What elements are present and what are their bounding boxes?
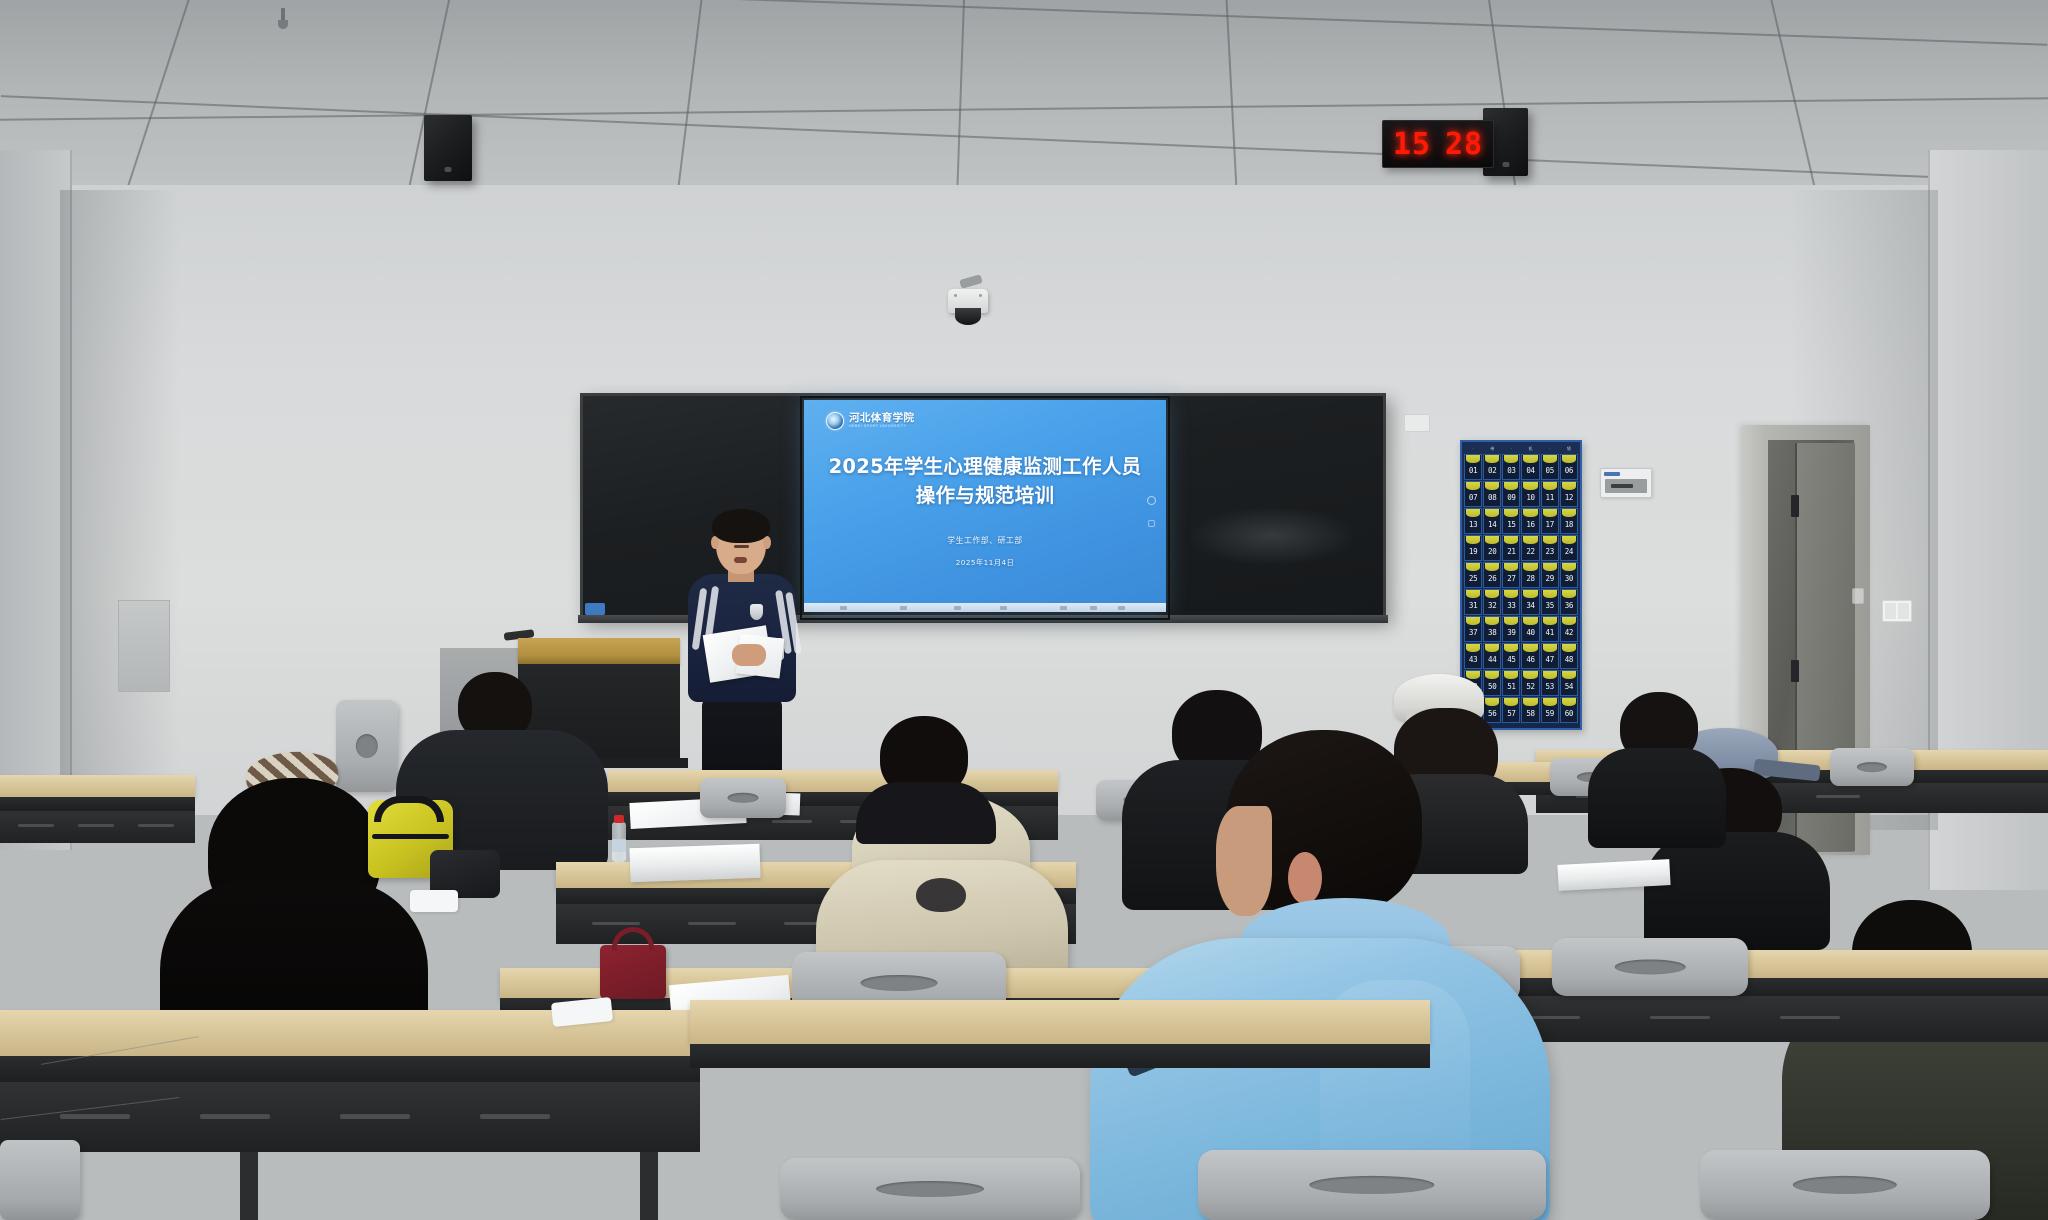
desk-foreground-left-panel bbox=[0, 1082, 700, 1152]
pocket-number: 53 bbox=[1546, 683, 1554, 696]
organizer-pocket[interactable]: 11 bbox=[1541, 481, 1559, 507]
chair[interactable] bbox=[1552, 938, 1748, 996]
desk-leg bbox=[640, 1152, 658, 1220]
pocket-flap bbox=[1562, 455, 1576, 463]
organizer-pocket[interactable]: 42 bbox=[1560, 616, 1578, 642]
wall-digital-clock: 15 28 bbox=[1382, 120, 1494, 168]
chair[interactable] bbox=[0, 1140, 80, 1220]
organizer-pocket[interactable]: 17 bbox=[1541, 508, 1559, 534]
pocket-flap bbox=[1543, 698, 1557, 706]
pocket-number: 01 bbox=[1469, 467, 1477, 480]
classroom-scene: 15 28 河北体育学院 HEBEI SPORT UNIVERSITY 2025… bbox=[0, 0, 2048, 1220]
pocket-number: 22 bbox=[1526, 548, 1534, 561]
organizer-pocket[interactable]: 46 bbox=[1521, 643, 1539, 669]
pocket-flap bbox=[1504, 563, 1518, 571]
pocket-number: 54 bbox=[1565, 683, 1573, 696]
desk-foreground-center bbox=[690, 1000, 1430, 1044]
pocket-flap bbox=[1562, 536, 1576, 544]
organizer-pocket[interactable]: 27 bbox=[1502, 562, 1520, 588]
organizer-pocket[interactable]: 15 bbox=[1502, 508, 1520, 534]
pocket-number: 20 bbox=[1488, 548, 1496, 561]
pocket-flap bbox=[1543, 509, 1557, 517]
pocket-number: 36 bbox=[1565, 602, 1573, 615]
pocket-flap bbox=[1543, 590, 1557, 598]
organizer-pocket[interactable]: 54 bbox=[1560, 670, 1578, 696]
pocket-flap bbox=[1485, 536, 1499, 544]
organizer-pocket[interactable]: 31 bbox=[1464, 589, 1482, 615]
pocket-flap bbox=[1562, 482, 1576, 490]
pocket-number: 41 bbox=[1546, 629, 1554, 642]
organizer-pocket[interactable]: 44 bbox=[1483, 643, 1501, 669]
pocket-flap bbox=[1562, 698, 1576, 706]
organizer-pocket[interactable]: 04 bbox=[1521, 454, 1539, 480]
pocket-flap bbox=[1504, 590, 1518, 598]
organizer-pocket[interactable]: 16 bbox=[1521, 508, 1539, 534]
pocket-number: 11 bbox=[1546, 494, 1554, 507]
organizer-pocket[interactable]: 19 bbox=[1464, 535, 1482, 561]
organizer-pocket[interactable]: 24 bbox=[1560, 535, 1578, 561]
pocket-flap bbox=[1543, 644, 1557, 652]
pocket-flap bbox=[1523, 509, 1537, 517]
organizer-pocket[interactable]: 20 bbox=[1483, 535, 1501, 561]
organizer-header-mark: · bbox=[1502, 445, 1520, 453]
organizer-header: · 带 · 机 · 袋 bbox=[1464, 445, 1578, 453]
pocket-flap bbox=[1543, 455, 1557, 463]
wall-outlet-plate bbox=[1404, 414, 1430, 432]
desk-leg bbox=[240, 1152, 258, 1220]
organizer-pocket[interactable]: 43 bbox=[1464, 643, 1482, 669]
pocket-flap bbox=[1485, 509, 1499, 517]
board-corner-tab bbox=[585, 603, 605, 615]
organizer-header-mark: 带 bbox=[1483, 445, 1501, 453]
organizer-pocket[interactable]: 38 bbox=[1483, 616, 1501, 642]
organizer-pocket[interactable]: 34 bbox=[1521, 589, 1539, 615]
organizer-header-mark: 袋 bbox=[1560, 445, 1578, 453]
pocket-flap bbox=[1466, 455, 1480, 463]
lectern-top bbox=[518, 638, 680, 664]
pocket-flap bbox=[1562, 590, 1576, 598]
pocket-number: 30 bbox=[1565, 575, 1573, 588]
pocket-number: 27 bbox=[1507, 575, 1515, 588]
pocket-flap bbox=[1543, 482, 1557, 490]
pocket-number: 05 bbox=[1546, 467, 1554, 480]
organizer-pocket[interactable]: 06 bbox=[1560, 454, 1578, 480]
organizer-header-mark: 机 bbox=[1521, 445, 1539, 453]
pocket-number: 13 bbox=[1469, 521, 1477, 534]
pocket-number: 40 bbox=[1526, 629, 1534, 642]
pocket-flap bbox=[1485, 590, 1499, 598]
organizer-pocket[interactable]: 26 bbox=[1483, 562, 1501, 588]
pocket-number: 12 bbox=[1565, 494, 1573, 507]
pocket-flap bbox=[1485, 482, 1499, 490]
pocket-flap bbox=[1466, 509, 1480, 517]
pocket-number: 37 bbox=[1469, 629, 1477, 642]
pocket-flap bbox=[1523, 563, 1537, 571]
pocket-flap bbox=[1466, 644, 1480, 652]
pocket-flap bbox=[1485, 644, 1499, 652]
attendee-4 bbox=[856, 716, 996, 836]
pocket-number: 31 bbox=[1469, 602, 1477, 615]
clock-minutes: 28 bbox=[1445, 127, 1483, 162]
pocket-flap bbox=[1504, 536, 1518, 544]
pocket-flap bbox=[1543, 563, 1557, 571]
pocket-number: 06 bbox=[1565, 467, 1573, 480]
pocket-flap bbox=[1523, 482, 1537, 490]
pocket-number: 28 bbox=[1526, 575, 1534, 588]
organizer-pocket[interactable]: 37 bbox=[1464, 616, 1482, 642]
pocket-flap bbox=[1562, 509, 1576, 517]
pocket-number: 43 bbox=[1469, 656, 1477, 669]
pocket-number: 18 bbox=[1565, 521, 1573, 534]
organizer-pocket[interactable]: 40 bbox=[1521, 616, 1539, 642]
pocket-number: 21 bbox=[1507, 548, 1515, 561]
pocket-number: 46 bbox=[1526, 656, 1534, 669]
organizer-pocket[interactable]: 53 bbox=[1541, 670, 1559, 696]
chair[interactable] bbox=[1830, 748, 1914, 786]
pocket-flap bbox=[1466, 482, 1480, 490]
pocket-flap bbox=[1504, 617, 1518, 625]
presenter-person bbox=[672, 512, 812, 782]
pocket-number: 04 bbox=[1526, 467, 1534, 480]
organizer-pocket[interactable]: 02 bbox=[1483, 454, 1501, 480]
screen-bezel bbox=[800, 396, 1170, 620]
pocket-number: 32 bbox=[1488, 602, 1496, 615]
red-handbag bbox=[600, 945, 666, 999]
organizer-pocket[interactable]: 60 bbox=[1560, 697, 1578, 723]
pocket-flap bbox=[1504, 509, 1518, 517]
organizer-pocket[interactable]: 41 bbox=[1541, 616, 1559, 642]
organizer-pocket[interactable]: 12 bbox=[1560, 481, 1578, 507]
ceiling bbox=[0, 0, 2048, 200]
presenter-hair bbox=[712, 509, 770, 543]
pocket-flap bbox=[1523, 536, 1537, 544]
pocket-flap bbox=[1485, 617, 1499, 625]
ceiling-sprinkler-head bbox=[278, 8, 288, 30]
pocket-flap bbox=[1562, 644, 1576, 652]
pocket-flap bbox=[1543, 617, 1557, 625]
pocket-number: 24 bbox=[1565, 548, 1573, 561]
pocket-flap bbox=[1523, 590, 1537, 598]
pocket-number: 02 bbox=[1488, 467, 1496, 480]
organizer-pocket[interactable]: 59 bbox=[1541, 697, 1559, 723]
organizer-pocket[interactable]: 13 bbox=[1464, 508, 1482, 534]
wall-speaker-left bbox=[424, 115, 472, 181]
organizer-pocket[interactable]: 47 bbox=[1541, 643, 1559, 669]
pocket-number: 23 bbox=[1546, 548, 1554, 561]
organizer-pocket[interactable]: 09 bbox=[1502, 481, 1520, 507]
pocket-number: 44 bbox=[1488, 656, 1496, 669]
organizer-pocket[interactable]: 48 bbox=[1560, 643, 1578, 669]
pocket-flap bbox=[1466, 590, 1480, 598]
organizer-pocket[interactable]: 03 bbox=[1502, 454, 1520, 480]
pocket-number: 33 bbox=[1507, 602, 1515, 615]
organizer-pocket[interactable]: 08 bbox=[1483, 481, 1501, 507]
pocket-number: 17 bbox=[1546, 521, 1554, 534]
organizer-pocket[interactable]: 21 bbox=[1502, 535, 1520, 561]
organizer-pocket[interactable]: 35 bbox=[1541, 589, 1559, 615]
wall-placard bbox=[1600, 468, 1652, 498]
organizer-pocket[interactable]: 32 bbox=[1483, 589, 1501, 615]
chair[interactable] bbox=[700, 778, 786, 818]
pocket-flap bbox=[1543, 671, 1557, 679]
pocket-number: 19 bbox=[1469, 548, 1477, 561]
organizer-pocket[interactable]: 22 bbox=[1521, 535, 1539, 561]
chair[interactable] bbox=[1700, 1150, 1990, 1220]
pocket-flap bbox=[1543, 536, 1557, 544]
organizer-pocket[interactable]: 18 bbox=[1560, 508, 1578, 534]
open-notebook bbox=[629, 844, 760, 883]
pocket-number: 07 bbox=[1469, 494, 1477, 507]
pocket-flap bbox=[1485, 455, 1499, 463]
organizer-pocket[interactable]: 29 bbox=[1541, 562, 1559, 588]
pocket-flap bbox=[1523, 617, 1537, 625]
pocket-number: 60 bbox=[1565, 710, 1573, 723]
wall-light-switch[interactable] bbox=[1882, 600, 1912, 622]
pocket-number: 15 bbox=[1507, 521, 1515, 534]
pocket-flap bbox=[1562, 671, 1576, 679]
presenter-hands bbox=[732, 644, 766, 666]
pocket-flap bbox=[1562, 563, 1576, 571]
organizer-pocket[interactable]: 25 bbox=[1464, 562, 1482, 588]
organizer-pocket[interactable]: 23 bbox=[1541, 535, 1559, 561]
pocket-flap bbox=[1466, 536, 1480, 544]
pocket-number: 38 bbox=[1488, 629, 1496, 642]
organizer-pocket[interactable]: 14 bbox=[1483, 508, 1501, 534]
organizer-pocket[interactable]: 30 bbox=[1560, 562, 1578, 588]
pocket-number: 35 bbox=[1546, 602, 1554, 615]
organizer-pocket[interactable]: 36 bbox=[1560, 589, 1578, 615]
organizer-header-mark: · bbox=[1541, 445, 1559, 453]
pocket-flap bbox=[1466, 563, 1480, 571]
organizer-pocket[interactable]: 07 bbox=[1464, 481, 1482, 507]
chair[interactable] bbox=[780, 1158, 1080, 1220]
attendee-7-ear bbox=[1288, 852, 1322, 904]
pocket-flap bbox=[1504, 644, 1518, 652]
organizer-pocket[interactable]: 01 bbox=[1464, 454, 1482, 480]
pocket-number: 45 bbox=[1507, 656, 1515, 669]
pocket-flap bbox=[1504, 455, 1518, 463]
organizer-pocket[interactable]: 05 bbox=[1541, 454, 1559, 480]
dome-security-camera bbox=[948, 285, 988, 327]
pocket-number: 48 bbox=[1565, 656, 1573, 669]
organizer-pocket[interactable]: 45 bbox=[1502, 643, 1520, 669]
pocket-number: 08 bbox=[1488, 494, 1496, 507]
pocket-flap bbox=[1523, 644, 1537, 652]
pocket-number: 59 bbox=[1546, 710, 1554, 723]
presenter-jacket-crest bbox=[750, 604, 763, 620]
wall-niche bbox=[118, 600, 170, 692]
pocket-number: 16 bbox=[1526, 521, 1534, 534]
pocket-number: 10 bbox=[1526, 494, 1534, 507]
pocket-flap bbox=[1562, 617, 1576, 625]
pocket-number: 26 bbox=[1488, 575, 1496, 588]
pocket-number: 39 bbox=[1507, 629, 1515, 642]
pocket-flap bbox=[1466, 617, 1480, 625]
organizer-pocket[interactable]: 33 bbox=[1502, 589, 1520, 615]
attendee-8 bbox=[1588, 692, 1728, 842]
pocket-flap bbox=[1523, 455, 1537, 463]
pocket-number: 42 bbox=[1565, 629, 1573, 642]
organizer-pocket[interactable]: 10 bbox=[1521, 481, 1539, 507]
pocket-number: 29 bbox=[1546, 575, 1554, 588]
pocket-flap bbox=[1485, 563, 1499, 571]
clock-hours: 15 bbox=[1393, 127, 1431, 162]
pocket-number: 14 bbox=[1488, 521, 1496, 534]
organizer-header-mark: · bbox=[1464, 445, 1482, 453]
pocket-flap bbox=[1504, 482, 1518, 490]
pocket-number: 34 bbox=[1526, 602, 1534, 615]
attendee-7 bbox=[1090, 730, 1560, 1220]
organizer-pocket[interactable]: 39 bbox=[1502, 616, 1520, 642]
chair[interactable] bbox=[1198, 1150, 1546, 1220]
pocket-number: 03 bbox=[1507, 467, 1515, 480]
wall-outlet-plate bbox=[1852, 588, 1864, 604]
tissue bbox=[410, 890, 458, 912]
organizer-pocket[interactable]: 28 bbox=[1521, 562, 1539, 588]
pocket-number: 47 bbox=[1546, 656, 1554, 669]
pocket-number: 25 bbox=[1469, 575, 1477, 588]
pocket-number: 09 bbox=[1507, 494, 1515, 507]
water-bottle bbox=[612, 822, 626, 862]
